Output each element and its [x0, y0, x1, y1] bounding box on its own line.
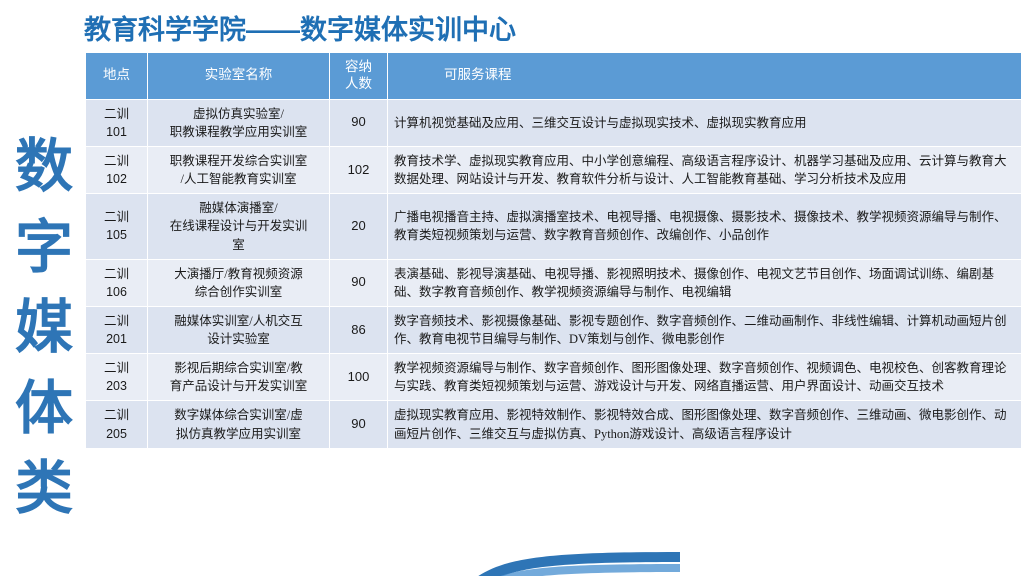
cell-courses: 教育技术学、虚拟现实教育应用、中小学创意编程、高级语言程序设计、机器学习基础及应…: [388, 147, 1022, 194]
cell-lab-name: 职教课程开发综合实训室/人工智能教育实训室: [148, 147, 330, 194]
cell-location: 二训205: [86, 401, 148, 448]
lab-name-line1: 融媒体演播室/: [154, 199, 323, 217]
cell-capacity: 102: [330, 147, 388, 194]
slide-canvas: 教育科学学院——数字媒体实训中心 数 字 媒 体 类 地点 实验室名称 容纳 人…: [0, 0, 1024, 576]
location-line1: 二训: [92, 359, 141, 377]
location-line2: 102: [92, 170, 141, 188]
cell-courses: 广播电视播音主持、虚拟演播室技术、电视导播、电视摄像、摄影技术、摄像技术、教学视…: [388, 194, 1022, 259]
lab-name-line1: 大演播厅/教育视频资源: [154, 265, 323, 283]
cell-location: 二训101: [86, 99, 148, 146]
location-line2: 203: [92, 377, 141, 395]
table-row: 二训201融媒体实训室/人机交互设计实验室86数字音频技术、影视摄像基础、影视专…: [86, 306, 1022, 353]
cell-lab-name: 大演播厅/教育视频资源综合创作实训室: [148, 259, 330, 306]
table-row: 二训205数字媒体综合实训室/虚拟仿真教学应用实训室90虚拟现实教育应用、影视特…: [86, 401, 1022, 448]
category-char-2: 字: [15, 219, 73, 277]
column-header-capacity: 容纳 人数: [330, 53, 388, 100]
lab-name-line2: 育产品设计与开发实训室: [154, 377, 323, 395]
location-line1: 二训: [92, 105, 141, 123]
cell-capacity: 90: [330, 401, 388, 448]
lab-name-line2: 综合创作实训室: [154, 283, 323, 301]
cell-courses: 计算机视觉基础及应用、三维交互设计与虚拟现实技术、虚拟现实教育应用: [388, 99, 1022, 146]
cell-location: 二训106: [86, 259, 148, 306]
location-line2: 201: [92, 330, 141, 348]
cell-lab-name: 影视后期综合实训室/教育产品设计与开发实训室: [148, 354, 330, 401]
category-char-1: 数: [15, 138, 73, 196]
cell-courses: 虚拟现实教育应用、影视特效制作、影视特效合成、图形图像处理、数字音频创作、三维动…: [388, 401, 1022, 448]
cell-lab-name: 融媒体演播室/在线课程设计与开发实训室: [148, 194, 330, 259]
table-row: 二训101虚拟仿真实验室/职教课程教学应用实训室90计算机视觉基础及应用、三维交…: [86, 99, 1022, 146]
page-title: 教育科学学院——数字媒体实训中心: [84, 12, 784, 48]
lab-name-line2: 在线课程设计与开发实训: [154, 217, 323, 235]
location-line2: 205: [92, 425, 141, 443]
category-vertical-label: 数 字 媒 体 类: [8, 138, 80, 518]
table-body: 二训101虚拟仿真实验室/职教课程教学应用实训室90计算机视觉基础及应用、三维交…: [86, 99, 1022, 448]
table-header: 地点 实验室名称 容纳 人数 可服务课程: [86, 53, 1022, 100]
cell-courses: 教学视频资源编导与制作、数字音频创作、图形图像处理、数字音频创作、视频调色、电视…: [388, 354, 1022, 401]
lab-name-line1: 虚拟仿真实验室/: [154, 105, 323, 123]
lab-name-line3: 室: [154, 236, 323, 254]
location-line1: 二训: [92, 406, 141, 424]
lab-name-line2: 设计实验室: [154, 330, 323, 348]
cell-capacity: 90: [330, 259, 388, 306]
column-header-location: 地点: [86, 53, 148, 100]
location-line1: 二训: [92, 312, 141, 330]
category-char-5: 类: [15, 460, 73, 518]
table-row: 二训106大演播厅/教育视频资源综合创作实训室90表演基础、影视导演基础、电视导…: [86, 259, 1022, 306]
lab-name-line1: 影视后期综合实训室/教: [154, 359, 323, 377]
column-header-lab-name: 实验室名称: [148, 53, 330, 100]
lab-name-line1: 职教课程开发综合实训室: [154, 152, 323, 170]
decorative-swoosh-icon: [470, 552, 680, 576]
cell-location: 二训102: [86, 147, 148, 194]
capacity-head-line2: 人数: [334, 76, 383, 93]
table-row: 二训102职教课程开发综合实训室/人工智能教育实训室102教育技术学、虚拟现实教…: [86, 147, 1022, 194]
cell-courses: 数字音频技术、影视摄像基础、影视专题创作、数字音频创作、二维动画制作、非线性编辑…: [388, 306, 1022, 353]
lab-name-line1: 融媒体实训室/人机交互: [154, 312, 323, 330]
lab-name-line2: 职教课程教学应用实训室: [154, 123, 323, 141]
cell-courses: 表演基础、影视导演基础、电视导播、影视照明技术、摄像创作、电视文艺节目创作、场面…: [388, 259, 1022, 306]
location-line2: 106: [92, 283, 141, 301]
location-line2: 105: [92, 226, 141, 244]
location-line1: 二训: [92, 152, 141, 170]
lab-name-line2: /人工智能教育实训室: [154, 170, 323, 188]
table-row: 二训203影视后期综合实训室/教育产品设计与开发实训室100教学视频资源编导与制…: [86, 354, 1022, 401]
location-line1: 二训: [92, 208, 141, 226]
cell-capacity: 90: [330, 99, 388, 146]
category-char-3: 媒: [15, 299, 73, 357]
cell-capacity: 20: [330, 194, 388, 259]
cell-capacity: 100: [330, 354, 388, 401]
table-header-row: 地点 实验室名称 容纳 人数 可服务课程: [86, 53, 1022, 100]
table-row: 二训105融媒体演播室/在线课程设计与开发实训室20广播电视播音主持、虚拟演播室…: [86, 194, 1022, 259]
cell-lab-name: 融媒体实训室/人机交互设计实验室: [148, 306, 330, 353]
cell-capacity: 86: [330, 306, 388, 353]
cell-location: 二训105: [86, 194, 148, 259]
location-line2: 101: [92, 123, 141, 141]
cell-lab-name: 虚拟仿真实验室/职教课程教学应用实训室: [148, 99, 330, 146]
location-line1: 二训: [92, 265, 141, 283]
cell-location: 二训203: [86, 354, 148, 401]
capacity-head-line1: 容纳: [334, 59, 383, 76]
cell-lab-name: 数字媒体综合实训室/虚拟仿真教学应用实训室: [148, 401, 330, 448]
lab-name-line2: 拟仿真教学应用实训室: [154, 425, 323, 443]
category-char-4: 体: [15, 380, 73, 438]
lab-name-line1: 数字媒体综合实训室/虚: [154, 406, 323, 424]
lab-directory-table: 地点 实验室名称 容纳 人数 可服务课程 二训101虚拟仿真实验室/职教课程教学…: [85, 52, 1022, 449]
column-header-courses: 可服务课程: [388, 53, 1022, 100]
cell-location: 二训201: [86, 306, 148, 353]
